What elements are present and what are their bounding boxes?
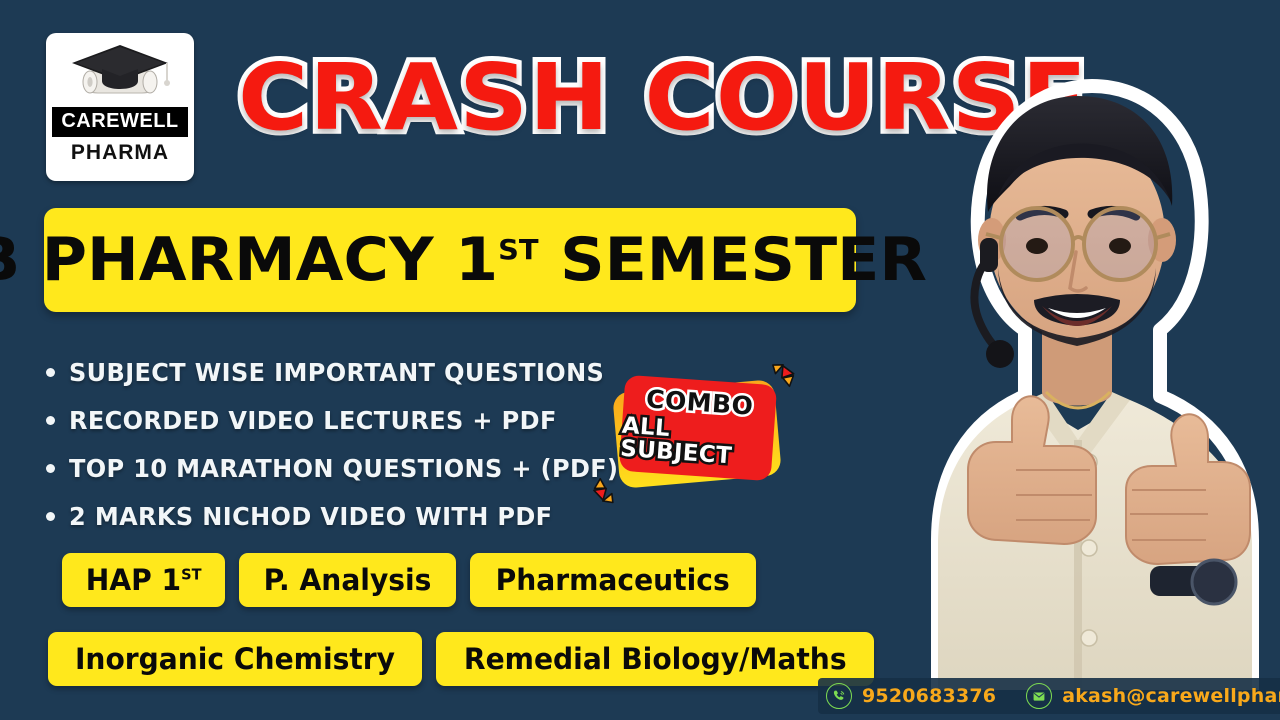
- contact-phone-number[interactable]: 9520683376: [862, 685, 996, 707]
- feature-label: SUBJECT WISE IMPORTANT QUESTIONS: [69, 358, 604, 387]
- subject-pill-pharmaceutics[interactable]: Pharmaceutics: [470, 553, 755, 607]
- combo-badge-front-plate: COMBO ALL SUBJECT: [619, 375, 777, 481]
- semester-banner: B PHARMACY 1ST SEMESTER: [44, 208, 856, 312]
- logo-brand-sub: PHARMA: [71, 141, 169, 165]
- phone-icon[interactable]: [826, 683, 852, 709]
- envelope-icon[interactable]: [1026, 683, 1052, 709]
- subject-label: Pharmaceutics: [496, 563, 730, 597]
- feature-list: SUBJECT WISE IMPORTANT QUESTIONS RECORDE…: [46, 348, 646, 540]
- subject-label: Inorganic Chemistry: [75, 642, 395, 676]
- subject-pill-inorganic-chemistry[interactable]: Inorganic Chemistry: [48, 632, 422, 686]
- brand-logo: CAREWELL PHARMA: [46, 33, 194, 181]
- contact-bar: 9520683376 akash@carewellpharma.in: [818, 678, 1280, 714]
- list-item: TOP 10 MARATHON QUESTIONS + (PDF): [46, 444, 646, 492]
- semester-title-superscript: ST: [498, 233, 538, 266]
- subject-label: P. Analysis: [264, 563, 432, 597]
- semester-title-prefix: B PHARMACY 1: [0, 225, 498, 295]
- feature-label: 2 MARKS NICHOD VIDEO WITH PDF: [69, 502, 552, 531]
- bullet-dot-icon: [46, 416, 55, 425]
- subject-pill-row-1: HAP 1ST P. Analysis Pharmaceutics: [62, 553, 756, 607]
- list-item: 2 MARKS NICHOD VIDEO WITH PDF: [46, 492, 646, 540]
- feature-label: RECORDED VIDEO LECTURES + PDF: [69, 406, 557, 435]
- bullet-dot-icon: [46, 368, 55, 377]
- logo-name-bar: CAREWELL: [52, 107, 188, 137]
- bullet-dot-icon: [46, 464, 55, 473]
- presenter-photo: [820, 0, 1280, 690]
- combo-badge: COMBO ALL SUBJECT: [612, 378, 782, 488]
- combo-badge-line1: COMBO: [645, 386, 754, 418]
- subject-label: Remedial Biology/Maths: [464, 642, 847, 676]
- list-item: SUBJECT WISE IMPORTANT QUESTIONS: [46, 348, 646, 396]
- subject-pill-remedial-biology-maths[interactable]: Remedial Biology/Maths: [436, 632, 874, 686]
- combo-badge-line2: ALL SUBJECT: [620, 415, 775, 471]
- logo-brand-name: CAREWELL: [61, 110, 178, 132]
- subject-label: HAP 1: [86, 563, 181, 597]
- subject-pill-p-analysis[interactable]: P. Analysis: [239, 553, 456, 607]
- subject-label-superscript: ST: [181, 565, 201, 583]
- subject-pill-hap[interactable]: HAP 1ST: [62, 553, 225, 607]
- subject-pill-row-2: Inorganic Chemistry Remedial Biology/Mat…: [48, 632, 874, 686]
- feature-label: TOP 10 MARATHON QUESTIONS + (PDF): [69, 454, 618, 483]
- contact-email-address[interactable]: akash@carewellpharma.in: [1062, 685, 1280, 707]
- list-item: RECORDED VIDEO LECTURES + PDF: [46, 396, 646, 444]
- semester-title: B PHARMACY 1ST SEMESTER: [0, 230, 927, 290]
- graduation-cap-diploma-icon: [68, 41, 172, 105]
- presenter-illustration: [820, 0, 1280, 690]
- promo-banner: CAREWELL PHARMA CRASH COURSE B PHARMACY …: [0, 0, 1280, 720]
- bullet-dot-icon: [46, 512, 55, 521]
